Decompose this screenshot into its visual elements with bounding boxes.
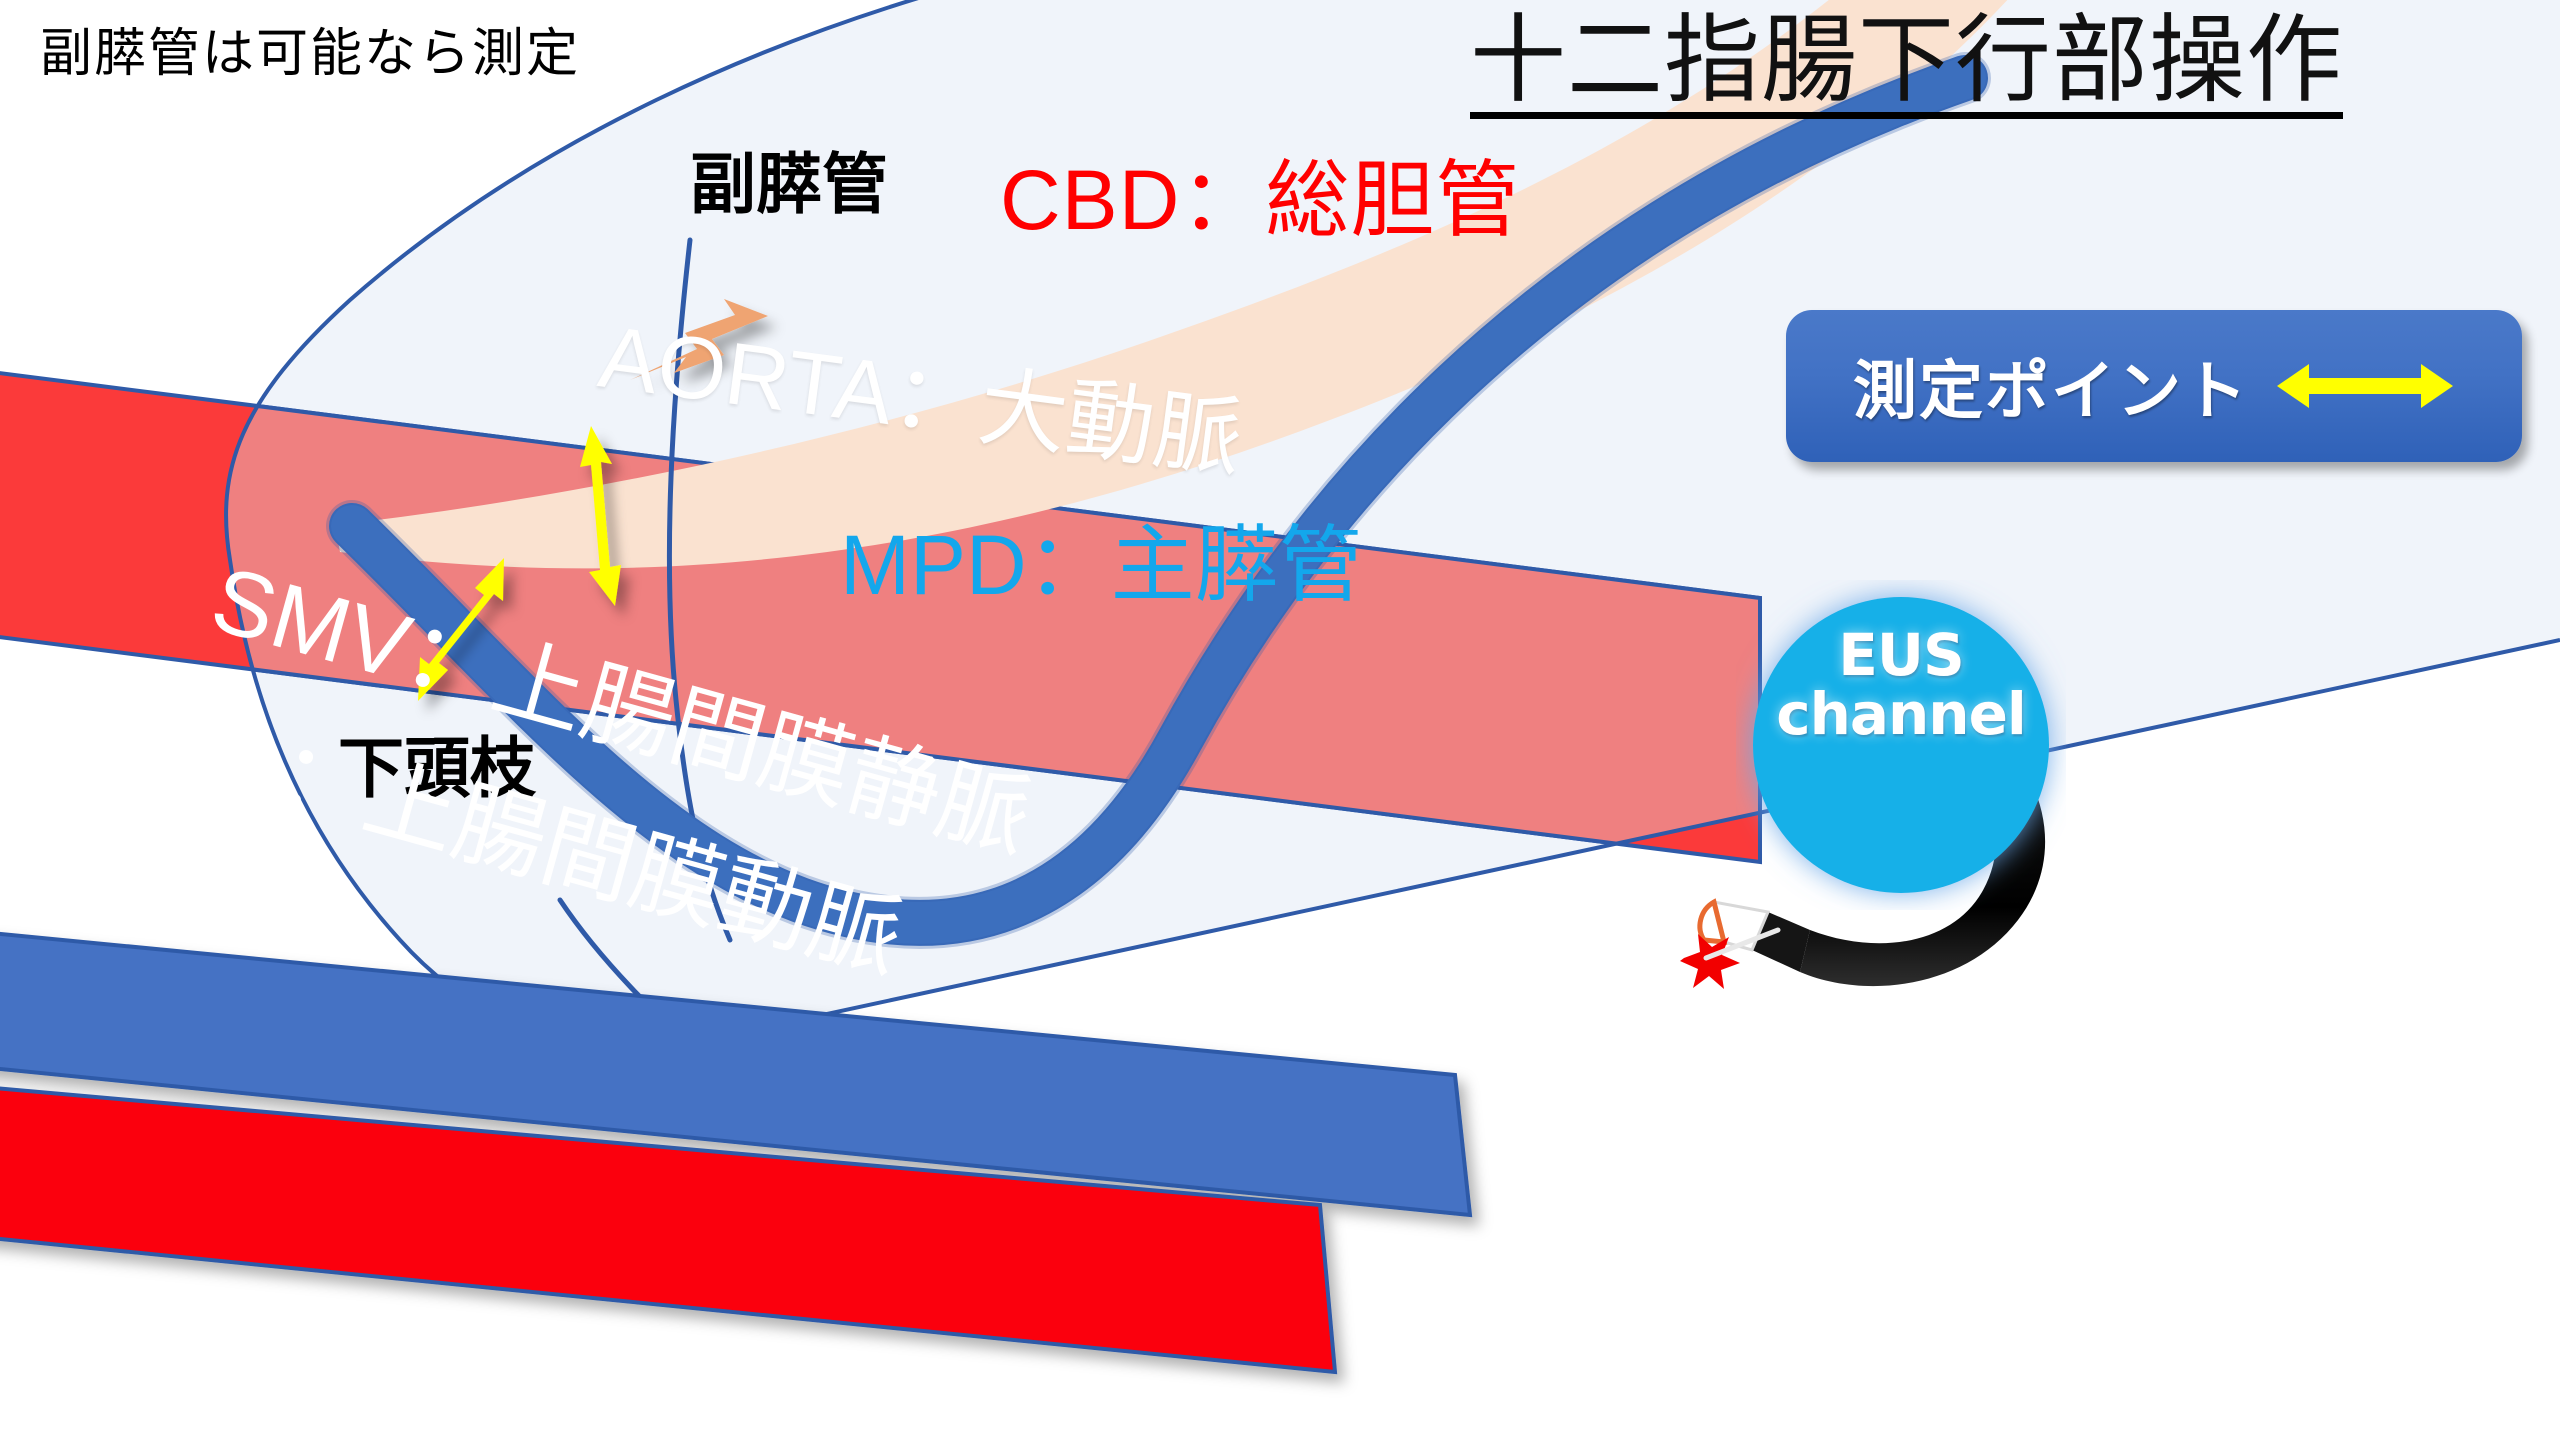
label-main-pancreatic-duct: MPD：主膵管 xyxy=(840,523,1363,607)
page-title: 十二指腸下行部操作 xyxy=(1470,12,2343,119)
eus-bubble-circle xyxy=(1736,580,2066,910)
accessory-duct-note: 副膵管は可能なら測定 xyxy=(40,28,580,80)
measurement-point-legend[interactable]: 測定ポイント xyxy=(1786,310,2522,462)
label-common-bile-duct: CBD：総胆管 xyxy=(1000,158,1520,242)
double-headed-arrow-icon xyxy=(2275,354,2455,418)
label-accessory-pancreatic-duct: 副膵管 xyxy=(690,152,888,218)
measurement-point-label: 測定ポイント xyxy=(1853,340,2249,432)
slide-canvas: 副膵管は可能なら測定 十二指腸下行部操作 副膵管 下頭枝 CBD：総胆管 AOR… xyxy=(0,0,2560,1440)
eus-channel-marker[interactable]: EUS channel xyxy=(1736,580,2066,910)
